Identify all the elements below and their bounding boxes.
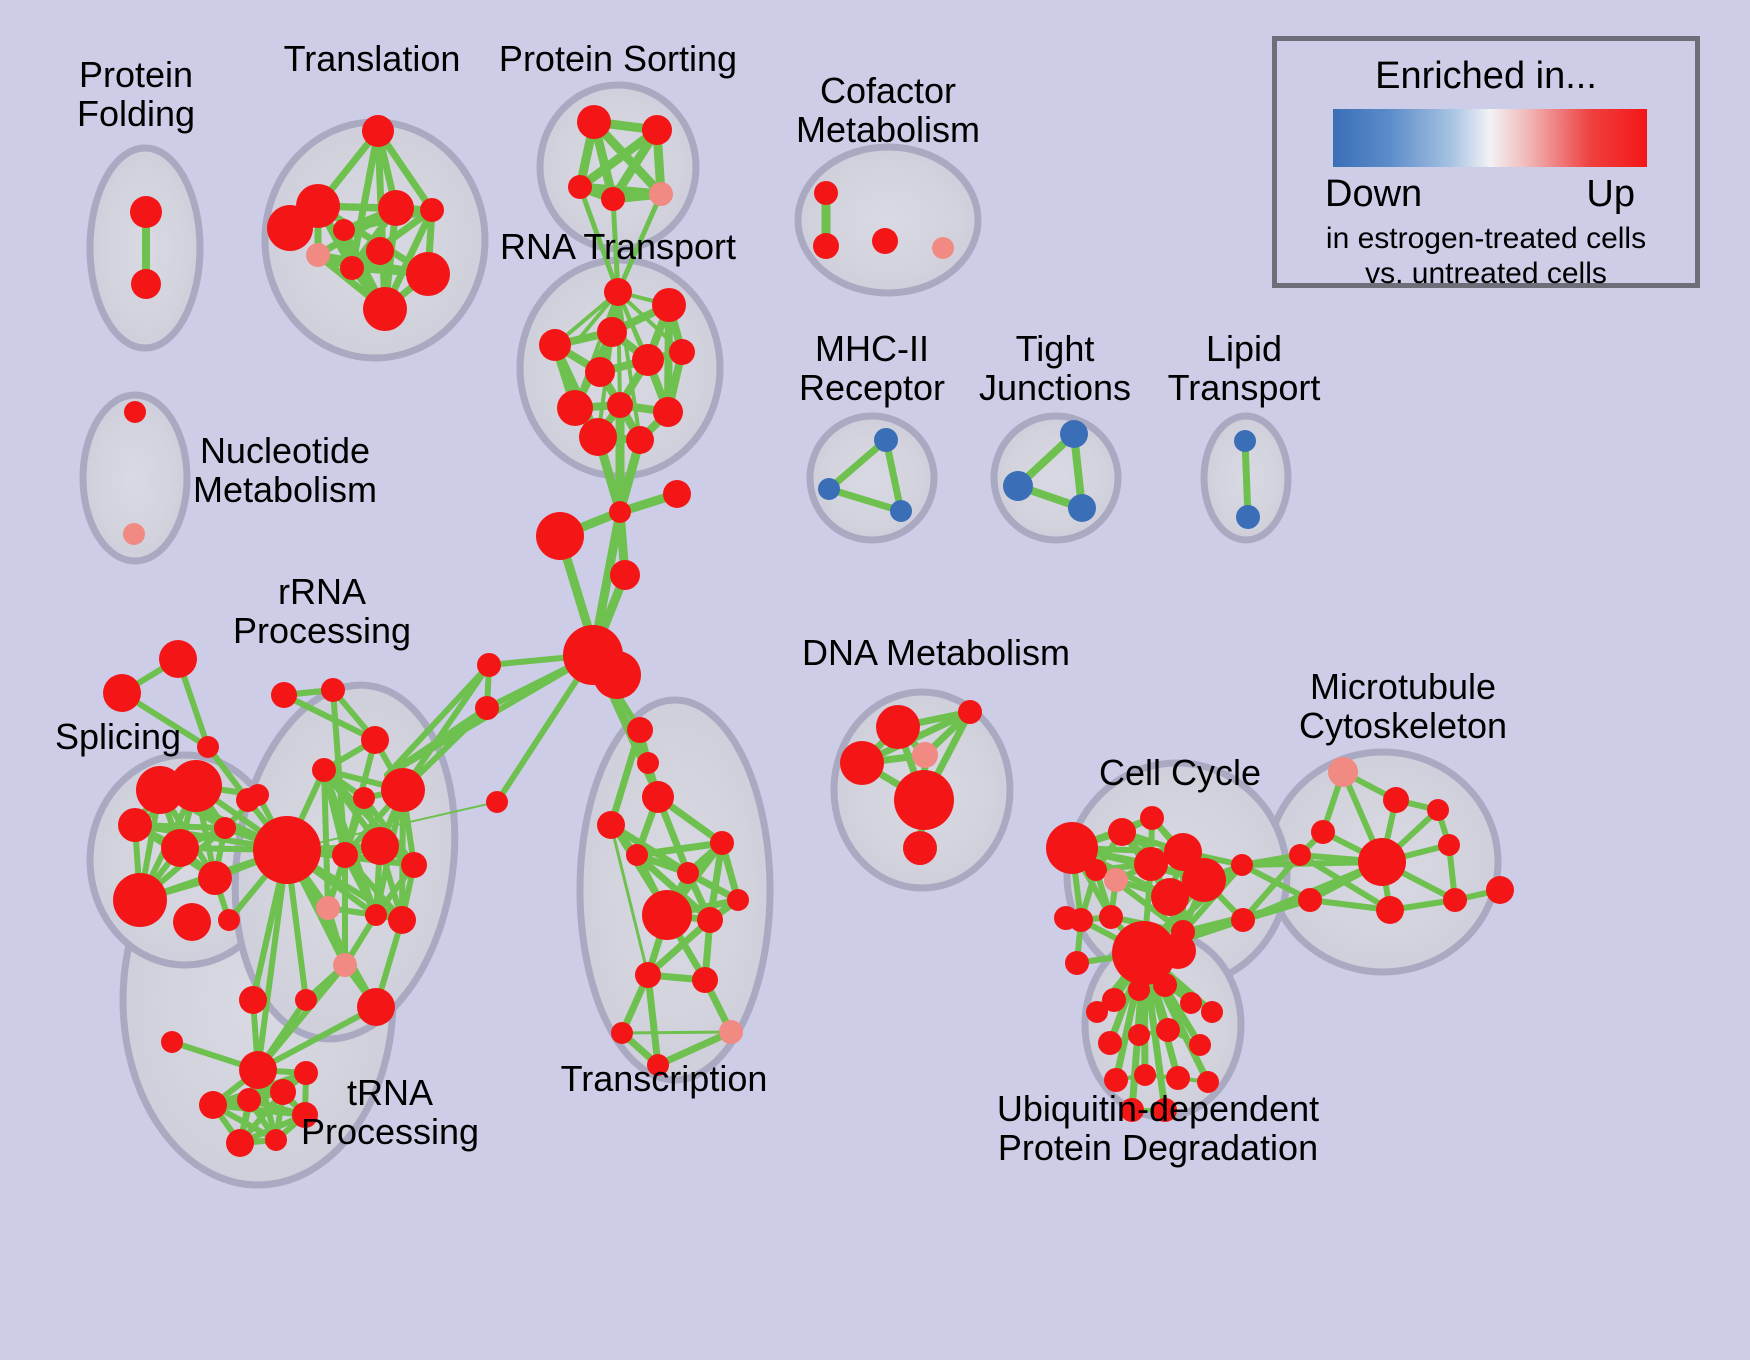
node: [813, 233, 839, 259]
node: [321, 678, 345, 702]
node: [1134, 1064, 1156, 1086]
node: [1189, 1034, 1211, 1056]
node: [363, 287, 407, 331]
node: [214, 817, 236, 839]
node: [635, 962, 661, 988]
node: [1060, 420, 1088, 448]
node: [652, 288, 686, 322]
node: [609, 501, 631, 523]
node: [653, 397, 683, 427]
legend-box: Enriched in... Down Up in estrogen-treat…: [1272, 36, 1700, 288]
node: [710, 831, 734, 855]
node: [692, 967, 718, 993]
node: [118, 808, 152, 842]
node: [253, 816, 321, 884]
node: [1104, 1068, 1128, 1092]
node: [1289, 844, 1311, 866]
node: [642, 781, 674, 813]
node: [173, 903, 211, 941]
node: [607, 392, 633, 418]
node: [1120, 1098, 1144, 1122]
node: [876, 705, 920, 749]
node: [1438, 834, 1460, 856]
node: [420, 198, 444, 222]
node: [477, 653, 501, 677]
node: [1311, 820, 1335, 844]
node: [361, 726, 389, 754]
node: [577, 105, 611, 139]
node: [626, 426, 654, 454]
node: [486, 791, 508, 813]
node: [271, 682, 297, 708]
node: [626, 844, 648, 866]
node: [597, 317, 627, 347]
node: [840, 741, 884, 785]
node: [239, 1051, 277, 1089]
node: [1151, 878, 1189, 916]
node: [1234, 430, 1256, 452]
node: [406, 252, 450, 296]
node: [333, 219, 355, 241]
node: [1156, 1018, 1180, 1042]
node: [124, 401, 146, 423]
node: [637, 752, 659, 774]
node: [610, 560, 640, 590]
node: [1358, 838, 1406, 886]
node: [292, 1102, 318, 1128]
node: [814, 181, 838, 205]
node: [270, 1079, 296, 1105]
node: [611, 1022, 633, 1044]
node: [161, 829, 199, 867]
node: [365, 904, 387, 926]
node: [818, 478, 840, 500]
node: [198, 861, 232, 895]
node: [642, 115, 672, 145]
node: [1153, 1098, 1177, 1122]
legend-title: Enriched in...: [1277, 55, 1695, 98]
node: [1069, 908, 1093, 932]
node: [1128, 979, 1150, 1001]
node: [557, 390, 593, 426]
node: [388, 906, 416, 934]
node: [265, 1129, 287, 1151]
node: [539, 329, 571, 361]
legend-color-gradient: [1333, 109, 1647, 167]
node: [632, 344, 664, 376]
node: [1099, 905, 1123, 929]
node: [627, 717, 653, 743]
node: [579, 418, 617, 456]
cluster-blob-mhc-ii-receptor: [810, 416, 934, 540]
node: [226, 1129, 254, 1157]
node: [1134, 847, 1168, 881]
node: [239, 986, 267, 1014]
cluster-blob-protein-sorting: [540, 85, 696, 249]
node: [1201, 1001, 1223, 1023]
node: [267, 205, 313, 251]
node: [912, 742, 938, 768]
node: [585, 357, 615, 387]
node: [1486, 876, 1514, 904]
node: [894, 770, 954, 830]
node: [872, 228, 898, 254]
node: [1427, 799, 1449, 821]
node: [1065, 951, 1089, 975]
node: [123, 523, 145, 545]
node: [568, 175, 592, 199]
node: [294, 1061, 318, 1085]
node: [103, 674, 141, 712]
node: [1298, 888, 1322, 912]
node: [727, 889, 749, 911]
node: [475, 696, 499, 720]
node: [170, 760, 222, 812]
node: [357, 988, 395, 1026]
node: [333, 953, 357, 977]
node: [130, 196, 162, 228]
node: [218, 909, 240, 931]
node: [381, 768, 425, 812]
node: [295, 989, 317, 1011]
node: [378, 190, 414, 226]
node: [890, 500, 912, 522]
node: [1128, 1024, 1150, 1046]
node: [332, 842, 358, 868]
legend-caption: in estrogen-treated cells vs. untreated …: [1277, 221, 1695, 292]
node: [113, 873, 167, 927]
node: [903, 831, 937, 865]
node: [697, 907, 723, 933]
legend-up-label: Up: [1586, 173, 1635, 216]
node: [1153, 973, 1177, 997]
node: [874, 428, 898, 452]
node: [593, 651, 641, 699]
node: [1180, 992, 1202, 1014]
node: [1236, 505, 1260, 529]
node: [1140, 806, 1164, 830]
node: [361, 827, 399, 865]
node: [306, 243, 330, 267]
node: [719, 1020, 743, 1044]
node: [1102, 988, 1126, 1012]
node: [649, 182, 673, 206]
node: [340, 256, 364, 280]
node: [604, 278, 632, 306]
node: [247, 784, 269, 806]
node: [958, 700, 982, 724]
node: [1108, 818, 1136, 846]
node: [932, 237, 954, 259]
node: [316, 896, 340, 920]
node: [1104, 868, 1128, 892]
node: [1068, 494, 1096, 522]
node: [1443, 888, 1467, 912]
node: [362, 115, 394, 147]
node: [353, 787, 375, 809]
node: [161, 1031, 183, 1053]
node: [536, 512, 584, 560]
legend-down-label: Down: [1325, 173, 1422, 216]
node: [312, 758, 336, 782]
node: [197, 736, 219, 758]
node: [601, 187, 625, 211]
node: [669, 339, 695, 365]
node: [366, 237, 394, 265]
node: [1003, 471, 1033, 501]
node: [677, 862, 699, 884]
node: [1383, 787, 1409, 813]
node: [1166, 1066, 1190, 1090]
node: [1328, 757, 1358, 787]
network-figure: Protein Folding Translation Protein Sort…: [0, 0, 1750, 1360]
node: [1085, 859, 1107, 881]
node: [237, 1088, 261, 1112]
node: [131, 269, 161, 299]
node: [1098, 1031, 1122, 1055]
node: [1160, 933, 1196, 969]
node: [647, 1054, 669, 1076]
node: [1376, 896, 1404, 924]
node: [597, 811, 625, 839]
node: [199, 1091, 227, 1119]
node: [401, 852, 427, 878]
node: [1231, 854, 1253, 876]
node: [1197, 1071, 1219, 1093]
node: [1231, 908, 1255, 932]
node: [663, 480, 691, 508]
node: [159, 640, 197, 678]
node: [642, 890, 692, 940]
